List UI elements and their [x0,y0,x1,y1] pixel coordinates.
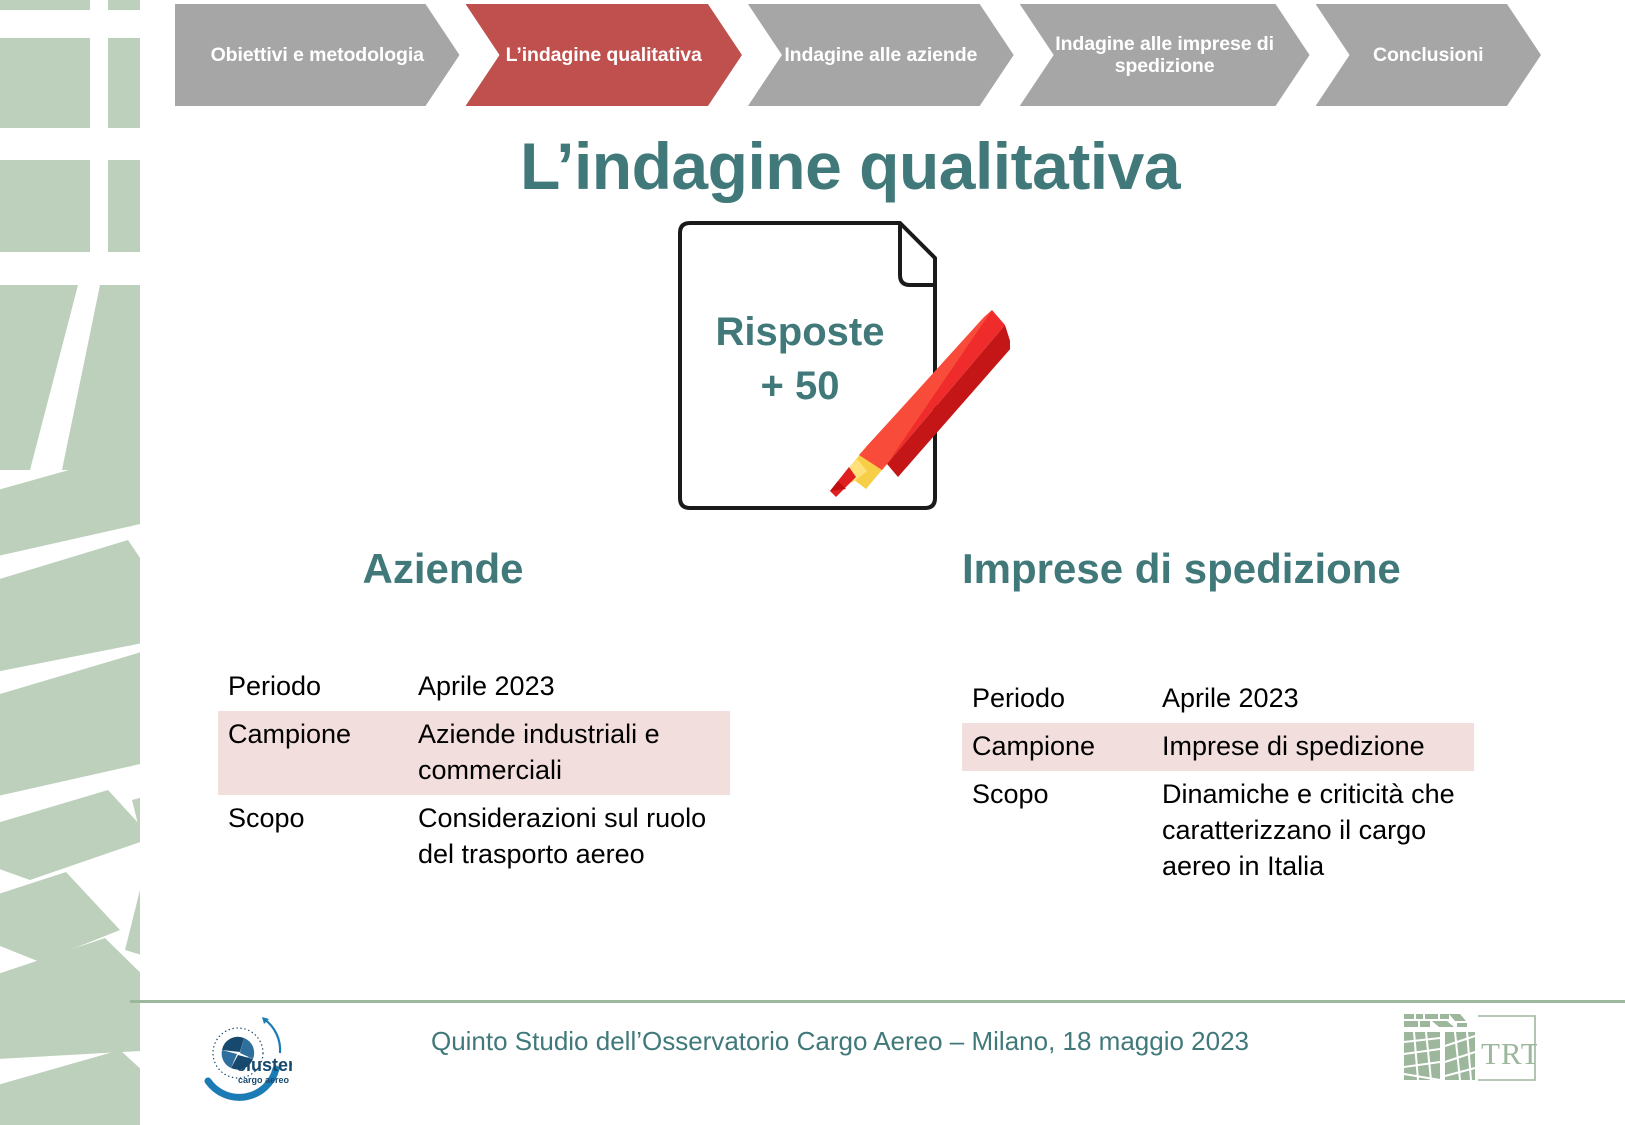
table-row: CampioneImprese di spedizione [962,723,1474,771]
row-value: Considerazioni sul ruolo del trasporto a… [408,795,730,879]
page-title: L’indagine qualitativa [150,128,1550,204]
row-key: Scopo [962,771,1152,891]
panel-aziende-title: Aziende [218,545,668,593]
slide-canvas: Obiettivi e metodologiaL’indagine qualit… [0,0,1625,1125]
row-key: Campione [218,711,408,795]
footer-divider [130,1000,1625,1003]
row-value: Aprile 2023 [1152,675,1474,723]
panel-spedizione-title: Imprese di spedizione [962,545,1482,593]
svg-text:cluster: cluster [236,1055,292,1075]
breadcrumb-step-label: L’indagine qualitativa [498,44,710,66]
table-row: ScopoDinamiche e criticità che caratteri… [962,771,1474,891]
row-key: Campione [962,723,1152,771]
breadcrumb-step-4[interactable]: Indagine alle imprese di spedizione [1020,4,1310,106]
spedizione-table-body: PeriodoAprile 2023CampioneImprese di spe… [962,675,1474,891]
row-value: Aziende industriali e commerciali [408,711,730,795]
table-row: ScopoConsiderazioni sul ruolo del traspo… [218,795,730,879]
svg-text:TRT: TRT [1481,1036,1537,1071]
row-key: Periodo [218,663,408,711]
map-pattern-icon [0,0,140,1125]
spedizione-table: PeriodoAprile 2023CampioneImprese di spe… [962,675,1474,891]
breadcrumb: Obiettivi e metodologiaL’indagine qualit… [175,4,1541,106]
row-value: Aprile 2023 [408,663,730,711]
breadcrumb-step-label: Indagine alle aziende [776,44,985,66]
table-row: PeriodoAprile 2023 [962,675,1474,723]
breadcrumb-step-1[interactable]: Obiettivi e metodologia [175,4,460,106]
table-row: CampioneAziende industriali e commercial… [218,711,730,795]
footer-caption: Quinto Studio dell’Osservatorio Cargo Ae… [300,1026,1380,1057]
breadcrumb-step-3[interactable]: Indagine alle aziende [748,4,1014,106]
breadcrumb-step-label: Obiettivi e metodologia [203,44,432,66]
row-value: Dinamiche e criticità che caratterizzano… [1152,771,1474,891]
table-row: PeriodoAprile 2023 [218,663,730,711]
breadcrumb-step-label: Indagine alle imprese di spedizione [1020,33,1310,78]
row-value: Imprese di spedizione [1152,723,1474,771]
aziende-table: PeriodoAprile 2023CampioneAziende indust… [218,663,730,879]
trt-logo: TRT [1402,1012,1537,1084]
document-icon [660,215,1010,520]
aziende-table-body: PeriodoAprile 2023CampioneAziende indust… [218,663,730,879]
cluster-cargo-aereo-logo: cluster cargo aereo [196,1009,292,1105]
breadcrumb-step-label: Conclusioni [1365,44,1491,66]
panel-imprese-di-spedizione: Imprese di spedizione PeriodoAprile 2023… [962,545,1482,891]
svg-text:cargo aereo: cargo aereo [238,1075,290,1085]
row-key: Periodo [962,675,1152,723]
breadcrumb-step-2[interactable]: L’indagine qualitativa [466,4,742,106]
row-key: Scopo [218,795,408,879]
panel-aziende: Aziende PeriodoAprile 2023CampioneAziend… [218,545,738,879]
decorative-map-strip [0,0,140,1125]
breadcrumb-step-5[interactable]: Conclusioni [1316,4,1541,106]
